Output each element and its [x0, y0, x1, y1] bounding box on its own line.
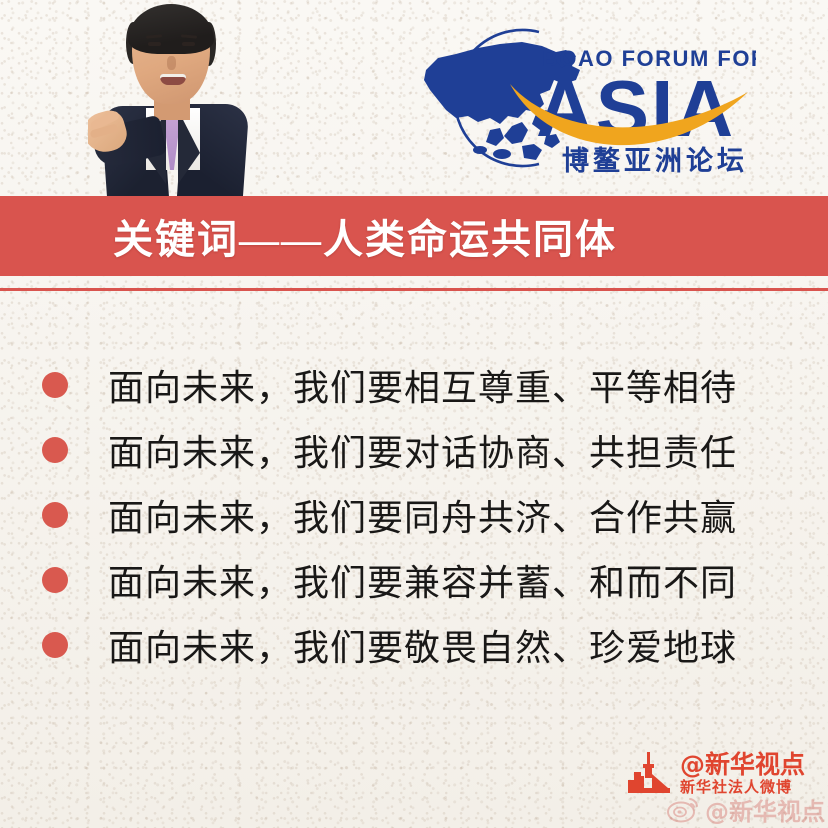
portrait-photo — [88, 0, 260, 202]
title-banner: 关键词——人类命运共同体 — [0, 196, 828, 276]
bullet-dot-icon — [42, 437, 68, 463]
bullet-dot-icon — [42, 632, 68, 658]
eye-left — [148, 42, 161, 46]
eye-right — [182, 42, 195, 46]
mouth — [160, 74, 186, 85]
list-item: 面向未来，我们要兼容并蓄、和而不同 — [0, 547, 828, 612]
page-title: 关键词——人类命运共同体 — [113, 207, 617, 265]
bullet-dot-icon — [42, 372, 68, 398]
list-item-label: 面向未来，我们要同舟共济、合作共赢 — [108, 489, 737, 541]
watermark-handle: @新华视点 — [680, 752, 805, 777]
keyword-bullet-list: 面向未来，我们要相互尊重、平等相待 面向未来，我们要对话协商、共担责任 面向未来… — [0, 352, 828, 677]
list-item-label: 面向未来，我们要敬畏自然、珍爱地球 — [108, 619, 737, 671]
list-item: 面向未来，我们要同舟共济、合作共赢 — [0, 482, 828, 547]
xinhua-torch-logo-icon — [624, 750, 676, 796]
hair — [128, 4, 214, 54]
weibo-eye-logo-icon — [666, 795, 700, 823]
logo-chinese-line: 博鳌亚洲论坛 — [562, 145, 748, 177]
bullet-dot-icon — [42, 567, 68, 593]
list-item-label: 面向未来，我们要对话协商、共担责任 — [108, 424, 737, 476]
poster-root: BOAO FORUM FOR ASIA 博鳌亚洲论坛 关键词——人类命运共同体 … — [0, 0, 828, 828]
bullet-dot-icon — [42, 502, 68, 528]
nose — [167, 56, 176, 70]
banner-divider-rule — [0, 288, 828, 291]
list-item: 面向未来，我们要敬畏自然、珍爱地球 — [0, 612, 828, 677]
list-item-label: 面向未来，我们要相互尊重、平等相待 — [108, 359, 737, 411]
list-item: 面向未来，我们要相互尊重、平等相待 — [0, 352, 828, 417]
xinhua-watermark: @新华视点 新华社法人微博 — [624, 748, 820, 798]
list-item: 面向未来，我们要对话协商、共担责任 — [0, 417, 828, 482]
weibo-handle: @新华视点 — [705, 792, 825, 827]
list-item-label: 面向未来，我们要兼容并蓄、和而不同 — [108, 554, 737, 606]
weibo-watermark: @新华视点 — [666, 792, 828, 826]
boao-forum-for-asia-logo: BOAO FORUM FOR ASIA 博鳌亚洲论坛 — [404, 18, 756, 178]
